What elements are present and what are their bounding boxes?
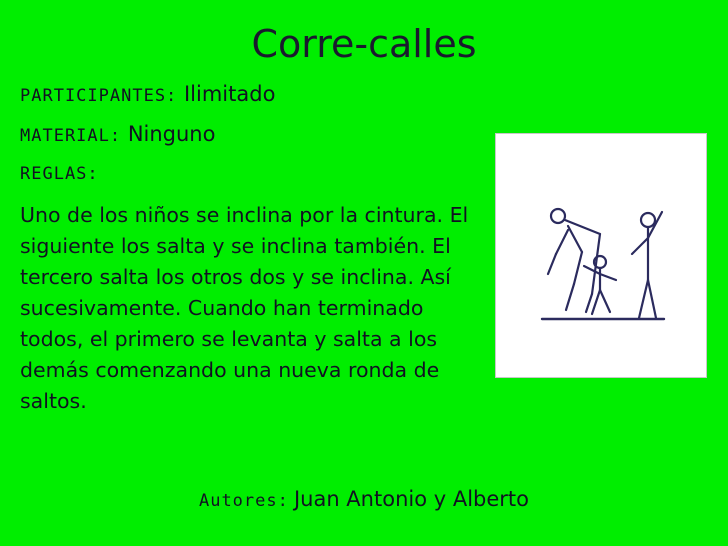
authors-label: Autores:	[199, 491, 289, 511]
authors-line: Autores: Juan Antonio y Alberto	[0, 487, 728, 511]
page-title: Corre-calles	[0, 22, 728, 66]
field-participantes: PARTICIPANTES: Ilimitado	[20, 82, 275, 106]
field-participantes-value: Ilimitado	[184, 82, 275, 106]
field-material-label: MATERIAL:	[20, 126, 121, 146]
authors-value: Juan Antonio y Alberto	[294, 487, 529, 511]
illustration-image	[495, 133, 707, 378]
field-material-value: Ninguno	[128, 122, 216, 146]
field-participantes-label: PARTICIPANTES:	[20, 86, 177, 106]
rules-body-text: Uno de los niños se inclina por la cintu…	[20, 200, 490, 417]
field-reglas: REGLAS:	[20, 160, 99, 184]
field-material: MATERIAL: Ninguno	[20, 122, 215, 146]
slide: Corre-calles PARTICIPANTES: Ilimitado MA…	[0, 0, 728, 546]
stick-figures-leapfrog-drawing	[496, 134, 706, 377]
field-reglas-label: REGLAS:	[20, 164, 99, 184]
